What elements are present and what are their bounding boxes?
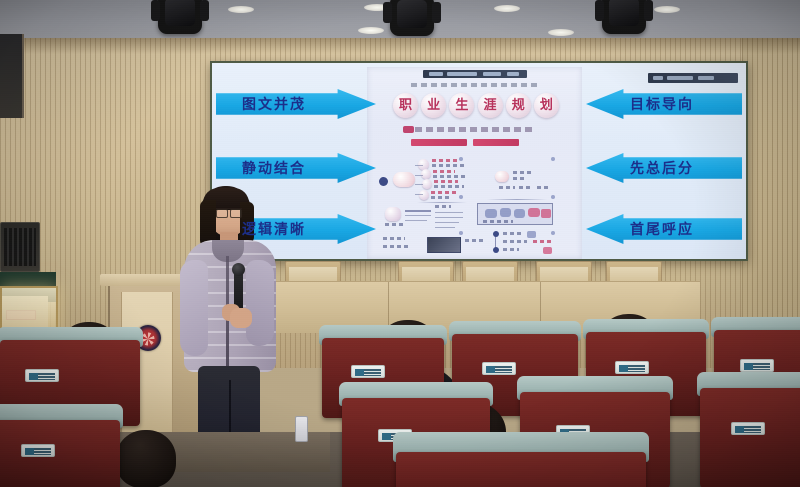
mindmap-divider <box>487 199 547 200</box>
mindmap-icon <box>527 231 536 238</box>
title-char-2: 业 <box>421 93 446 118</box>
mindmap-label <box>433 170 455 173</box>
mindmap-node-dot <box>493 247 499 253</box>
spotlight-lens <box>165 0 195 26</box>
presenter-arm-right <box>246 260 274 346</box>
seat-back <box>700 388 800 487</box>
slide-byline-text <box>415 127 535 132</box>
seat-number-plate <box>731 422 765 435</box>
slide-tag <box>411 139 467 146</box>
seat-number-plate <box>351 365 385 378</box>
arrow-mu-biao-dao-xiang: 目标导向 <box>586 89 742 119</box>
mindmap-node <box>495 171 509 182</box>
mindmap-link <box>405 210 431 212</box>
mindmap-marker <box>459 195 463 199</box>
slide-byline-badge <box>403 126 414 133</box>
mindmap-label <box>503 232 523 235</box>
mindmap-link <box>415 175 423 176</box>
slide-tag <box>473 139 519 146</box>
mindmap-link <box>435 227 455 228</box>
mindmap-icon <box>485 209 497 218</box>
projection-screen: 职 业 生 涯 规 划 <box>212 63 746 259</box>
mindmap-label <box>503 248 519 251</box>
arrow-label: 静动结合 <box>242 158 306 178</box>
mindmap-image-thumb <box>427 237 461 253</box>
stage-chair <box>398 261 454 283</box>
arrow-shou-wei-hu-ying: 首尾呼应 <box>586 214 742 244</box>
auditorium-photo: 职 业 生 涯 规 划 <box>0 0 800 487</box>
mindmap-label <box>519 186 533 189</box>
mindmap-label <box>431 191 457 194</box>
mindmap-label <box>465 239 483 242</box>
arrow-label: 先总后分 <box>630 158 694 178</box>
mindmap-label <box>537 186 549 189</box>
mindmap-link <box>415 165 423 166</box>
slide-toolbar-strip <box>648 73 738 83</box>
mindmap-label <box>432 159 458 162</box>
mindmap-label <box>435 205 451 208</box>
mindmap-link <box>435 212 463 213</box>
stage-chair <box>462 261 518 283</box>
audience-seat[interactable] <box>0 420 120 487</box>
control-equipment-rack <box>0 222 40 272</box>
mindmap-node <box>385 207 401 221</box>
seat-number-plate <box>482 362 516 375</box>
mindmap-marker <box>459 157 463 161</box>
audience-head <box>116 430 176 487</box>
audience-seat[interactable] <box>700 388 800 487</box>
mindmap-node-dot <box>493 231 499 237</box>
stage-chair <box>285 261 341 283</box>
title-char-6: 划 <box>534 93 559 118</box>
mindmap-label <box>383 245 411 248</box>
mindmap-divider <box>417 202 467 203</box>
slide-header-bar <box>423 70 527 78</box>
slide-tag-row <box>411 139 519 146</box>
mindmap-label <box>434 185 464 188</box>
recessed-downlight <box>358 27 384 34</box>
mindmap-link <box>415 194 423 195</box>
mindmap-link <box>435 217 463 218</box>
slide-subheader-text <box>411 83 539 87</box>
mindmap-label <box>431 196 451 199</box>
mindmap-node <box>421 169 431 179</box>
arrow-label: 图文并茂 <box>242 94 306 114</box>
title-char-5: 规 <box>506 93 531 118</box>
mindmap-label <box>533 240 551 243</box>
mobile-phone-on-armrest[interactable] <box>295 416 308 442</box>
arrow-label: 首尾呼应 <box>630 219 694 239</box>
stage-spotlight-right <box>602 0 646 34</box>
spotlight-lens <box>397 0 427 28</box>
mindmap-node <box>422 179 432 189</box>
mindmap-link <box>405 215 431 216</box>
presenter-arm-left <box>180 260 208 356</box>
mindmap-node <box>419 190 429 200</box>
seat-number-plate <box>21 444 55 457</box>
title-char-3: 生 <box>449 93 474 118</box>
arrow-tu-wen-bing-mao: 图文并茂 <box>216 89 376 119</box>
mindmap-node <box>393 172 415 187</box>
stage-chair <box>606 261 662 283</box>
wall-shadow <box>0 38 800 54</box>
mindmap-link <box>405 220 427 221</box>
arrow-label: 目标导向 <box>630 94 694 114</box>
mindmap-link <box>435 222 459 223</box>
recessed-downlight <box>494 5 520 12</box>
mindmap-label <box>433 175 465 178</box>
arrow-jing-dong-jie-he: 静动结合 <box>216 153 376 183</box>
mindmap-label <box>513 171 533 174</box>
mindmap-label <box>385 223 403 226</box>
mindmap-link <box>415 184 423 185</box>
slide-title: 职 业 生 涯 规 划 <box>393 93 559 118</box>
arrow-label: 逻辑清晰 <box>242 219 306 239</box>
mindmap-icon <box>528 208 540 217</box>
presenter-glasses <box>216 208 242 215</box>
mindmap-label <box>513 177 527 180</box>
mindmap-root-dot <box>379 177 388 186</box>
mindmap-label <box>503 240 527 243</box>
mindmap-label <box>434 180 458 183</box>
mindmap-icon <box>500 208 511 217</box>
mindmap-icon <box>514 209 525 218</box>
audience-seat[interactable] <box>396 452 646 487</box>
spotlight-lens <box>609 0 639 26</box>
seat-number-plate <box>740 359 774 372</box>
seat-back <box>396 452 646 487</box>
mindmap-icon <box>541 209 551 218</box>
presenter-hand-right <box>230 308 252 328</box>
title-char-4: 涯 <box>478 93 503 118</box>
mindmap-label <box>499 186 515 189</box>
stage-chair <box>536 261 592 283</box>
seat-number-plate <box>615 361 649 374</box>
mindmap-icon <box>543 247 552 254</box>
title-char-1: 职 <box>393 93 418 118</box>
mindmap-label <box>483 220 513 223</box>
projection-screen-frame: 职 业 生 涯 规 划 <box>210 61 748 261</box>
recessed-downlight <box>654 6 680 13</box>
arrow-xian-zong-hou-fen: 先总后分 <box>586 153 742 183</box>
mindmap-marker <box>551 231 555 235</box>
equipment-keypad <box>4 228 36 266</box>
stage-spotlight-center <box>390 0 434 36</box>
recessed-downlight <box>228 6 254 13</box>
mindmap-marker <box>551 195 555 199</box>
recessed-downlight <box>548 29 574 36</box>
seat-number-plate <box>25 369 59 382</box>
mindmap-label <box>383 237 405 240</box>
stage-spotlight-left <box>158 0 202 34</box>
mindmap-marker <box>551 157 555 161</box>
slide-content: 职 业 生 涯 规 划 <box>367 67 582 259</box>
mindmap-marker <box>459 231 463 235</box>
seat-back <box>0 420 120 487</box>
mindmap-label <box>432 164 466 167</box>
slide-mindmap <box>367 155 582 259</box>
wall-speaker-panel <box>0 34 24 118</box>
